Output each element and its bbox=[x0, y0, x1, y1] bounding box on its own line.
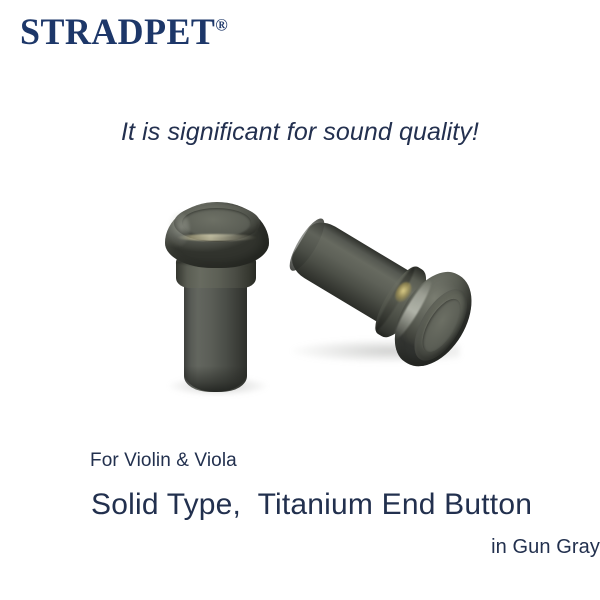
brand-logo: STRADPET® bbox=[20, 14, 228, 51]
registered-trademark-icon: ® bbox=[215, 16, 227, 35]
finish-caption: in Gun Gray bbox=[0, 536, 600, 559]
product-title: Solid Type, Titanium End Button bbox=[0, 488, 600, 522]
brand-name: STRADPET bbox=[20, 12, 215, 53]
head-inner-ring bbox=[182, 208, 251, 237]
end-button-tilted bbox=[280, 235, 470, 375]
tagline: It is significant for sound quality! bbox=[0, 118, 600, 147]
head-edge-highlight bbox=[168, 212, 190, 246]
product-photo bbox=[0, 175, 600, 415]
product-image-canvas: STRADPET® It is significant for sound qu… bbox=[0, 0, 600, 600]
tilt-group bbox=[257, 183, 492, 401]
instrument-caption: For Violin & Viola bbox=[0, 450, 600, 472]
